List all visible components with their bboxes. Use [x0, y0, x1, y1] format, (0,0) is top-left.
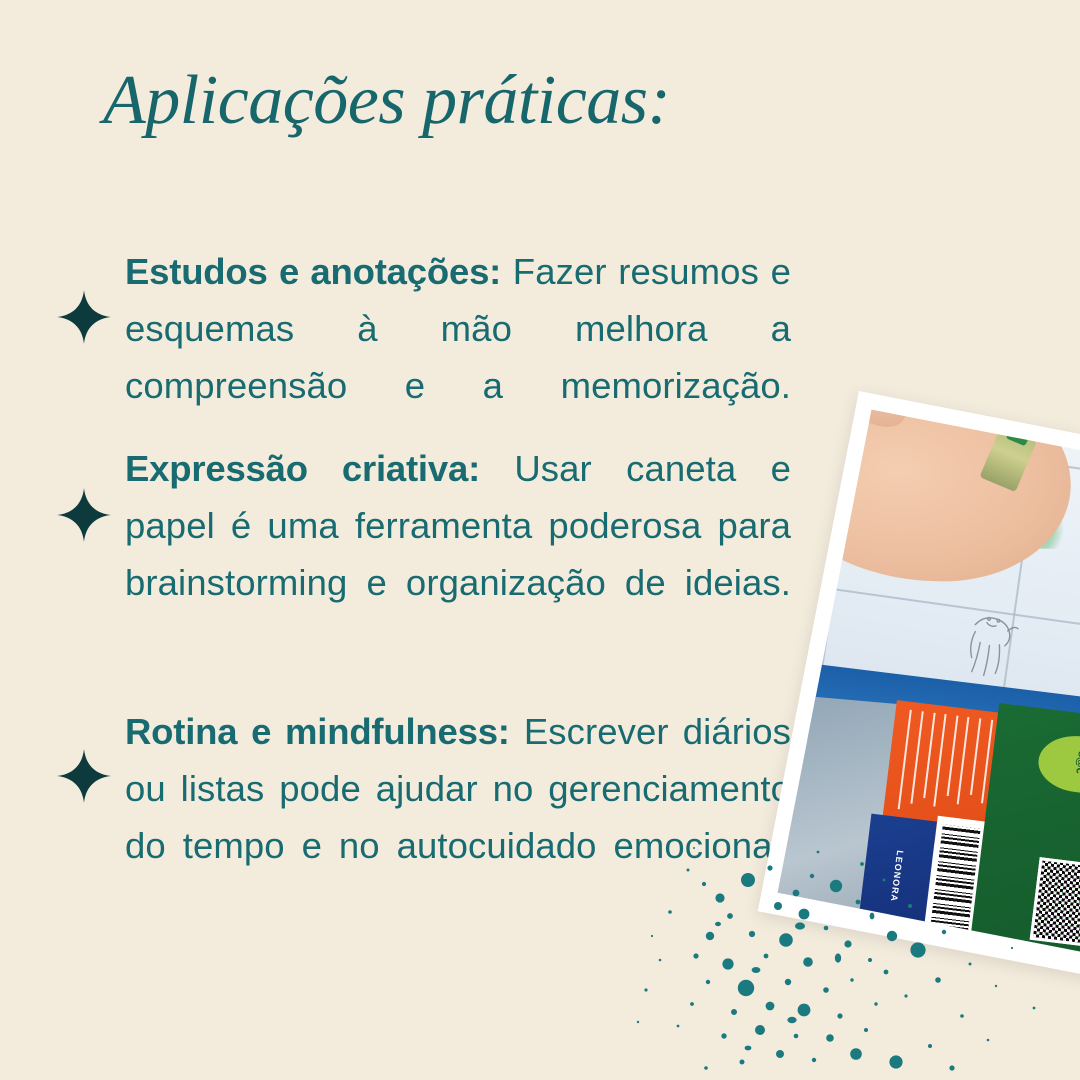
list-item-text: Expressão criativa: Usar caneta e papel … — [125, 440, 791, 668]
list-item: Estudos e anotações: Fazer resumos e esq… — [56, 243, 796, 471]
photo-brand-label: LEONORA — [889, 849, 905, 902]
qr-code-icon — [1029, 857, 1080, 948]
list-item: Rotina e mindfulness: Escrever diários o… — [56, 703, 796, 931]
list-item-text: Rotina e mindfulness: Escrever diários o… — [125, 703, 791, 931]
sparkle-icon — [56, 487, 112, 543]
sac-label: s@c — [1073, 750, 1080, 774]
list-item: Expressão criativa: Usar caneta e papel … — [56, 440, 796, 668]
sparkle-icon — [56, 289, 112, 345]
list-item-lead: Rotina e mindfulness: — [125, 711, 510, 752]
poster-canvas: Aplicações práticas: Estudos e anotações… — [0, 0, 1080, 1080]
list-item-lead: Estudos e anotações: — [125, 251, 501, 292]
sac-badge: s@c — [1035, 731, 1080, 797]
list-item-lead: Expressão criativa: — [125, 448, 480, 489]
sparkle-icon — [56, 748, 112, 804]
list-item-text: Estudos e anotações: Fazer resumos e esq… — [125, 243, 791, 471]
